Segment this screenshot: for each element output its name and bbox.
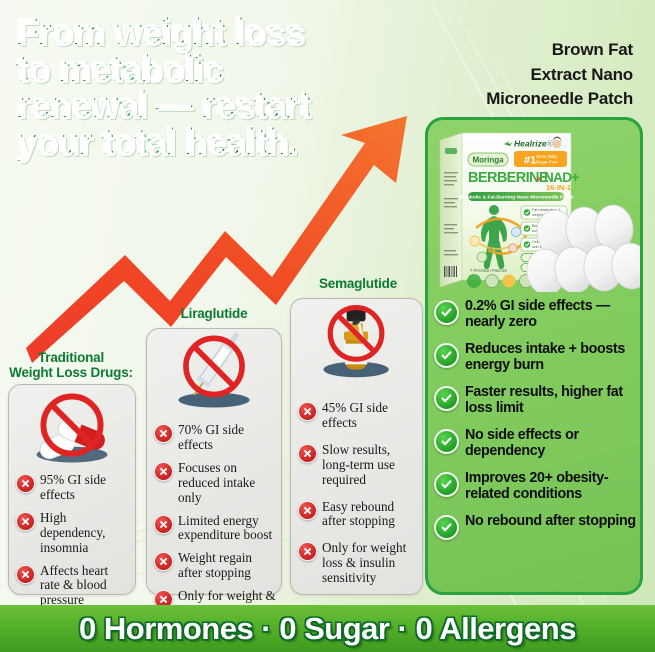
card-title-line-1: Semaglutide (288, 276, 428, 291)
drawback-label: Only for weight loss & insulin sensitivi… (322, 541, 417, 586)
drawback-label: Affects heart rate & blood pressure (40, 564, 130, 609)
svg-text:7 Precision Patches: 7 Precision Patches (470, 268, 507, 273)
svg-text:#1: #1 (524, 155, 536, 167)
comparison-card-traditional: 95% GI side effects High dependency, ins… (8, 384, 136, 595)
drawback-item: Easy rebound after stopping (298, 500, 417, 530)
product-title-line-2: Extract Nano (408, 63, 633, 88)
x-circle-icon (298, 542, 317, 561)
drawback-item: High dependency, insomnia (16, 511, 130, 556)
product-package-image: Healrize® Moringa #1 Once Daily Suga (428, 120, 640, 292)
product-title-line-1: Brown Fat (408, 38, 633, 63)
syringe-prohibited-icon (147, 329, 281, 415)
check-circle-icon (434, 472, 459, 497)
x-circle-icon (154, 515, 173, 534)
product-benefits-panel: Healrize® Moringa #1 Once Daily Suga (425, 117, 643, 595)
package-side-panel (440, 133, 462, 287)
headline-line-2: to metabolic (16, 51, 376, 88)
svg-text:×: × (536, 174, 541, 184)
banner-text: 0 Hormones · 0 Sugar · 0 Allergens (79, 611, 576, 647)
drawback-label: Limited energy expenditure boost (178, 514, 276, 544)
drawback-label: High dependency, insomnia (40, 511, 130, 556)
x-circle-icon (16, 474, 35, 493)
drawback-item: Only for weight loss & insulin sensitivi… (298, 541, 417, 586)
drawback-label: Focuses on reduced intake only (178, 461, 276, 506)
x-circle-icon (16, 512, 35, 531)
drawback-label: 95% GI side effects (40, 473, 130, 503)
check-circle-icon (434, 515, 459, 540)
product-title-line-3: Microneedle Patch (408, 87, 633, 112)
drawback-item: Limited energy expenditure boost (154, 514, 276, 544)
card-title-line-1: Liraglutide (144, 306, 284, 321)
drawback-item: 70% GI side effects (154, 423, 276, 453)
benefit-label: No rebound after stopping (465, 513, 636, 529)
svg-text:Moringa: Moringa (472, 156, 504, 165)
drawback-item: Affects heart rate & blood pressure (16, 564, 130, 609)
product-title: Brown Fat Extract Nano Microneedle Patch (408, 38, 633, 112)
benefit-item: 0.2% GI side effects — nearly zero (434, 298, 640, 330)
check-circle-icon (434, 343, 459, 368)
check-circle-icon (434, 429, 459, 454)
drawback-item: Slow results, long-term use required (298, 443, 417, 488)
card-title-traditional: Traditional Weight Loss Drugs: (6, 350, 136, 380)
benefit-item: Improves 20+ obesity-related conditions (434, 470, 640, 502)
x-circle-icon (154, 552, 173, 571)
drawback-label: 45% GI side effects (322, 401, 417, 431)
comparison-card-liraglutide: 70% GI side effects Focuses on reduced i… (146, 328, 282, 595)
infographic-root: From weight loss to metabolic renewal — … (0, 0, 655, 652)
drawback-label: Weight regain after stopping (178, 551, 276, 581)
dropper-bottle-prohibited-icon (291, 299, 422, 385)
svg-text:Metabolic & Fat-Burning Nano M: Metabolic & Fat-Burning Nano Microneedle… (459, 195, 574, 201)
check-circle-icon (434, 300, 459, 325)
benefit-label: No side effects or dependency (465, 427, 640, 459)
x-circle-icon (154, 462, 173, 481)
drawback-item: 45% GI side effects (298, 401, 417, 431)
check-circle-icon (434, 386, 459, 411)
benefit-label: Improves 20+ obesity-related conditions (465, 470, 640, 502)
x-circle-icon (298, 402, 317, 421)
drawback-item: Weight regain after stopping (154, 551, 276, 581)
svg-text:16-IN-1: 16-IN-1 (546, 183, 571, 192)
bottom-claims-banner: 0 Hormones · 0 Sugar · 0 Allergens (0, 605, 655, 652)
benefit-item: Reduces intake + boosts energy burn (434, 341, 640, 373)
svg-text:Once Daily: Once Daily (536, 154, 558, 159)
drawback-label: Easy rebound after stopping (322, 500, 417, 530)
headline-line-1: From weight loss (16, 14, 376, 51)
comparison-card-semaglutide: 45% GI side effects Slow results, long-t… (290, 298, 423, 595)
card-title-semaglutide: Semaglutide (288, 276, 428, 291)
drawback-item: 95% GI side effects (16, 473, 130, 503)
benefit-item: No side effects or dependency (434, 427, 640, 459)
x-circle-icon (298, 501, 317, 520)
card-title-line-1: Traditional (6, 350, 136, 365)
x-circle-icon (154, 424, 173, 443)
x-circle-icon (298, 444, 317, 463)
benefit-label: 0.2% GI side effects — nearly zero (465, 298, 640, 330)
card-title-liraglutide: Liraglutide (144, 306, 284, 321)
card-title-line-2: Weight Loss Drugs: (6, 365, 136, 380)
drawback-label: 70% GI side effects (178, 423, 276, 453)
benefit-item: Faster results, higher fat loss limit (434, 384, 640, 416)
pills-prohibited-icon (9, 385, 135, 471)
benefit-label: Faster results, higher fat loss limit (465, 384, 640, 416)
benefits-list: 0.2% GI side effects — nearly zero Reduc… (434, 298, 640, 551)
benefit-label: Reduces intake + boosts energy burn (465, 341, 640, 373)
benefit-item: No rebound after stopping (434, 513, 640, 540)
svg-text:Sugar Free: Sugar Free (536, 160, 559, 165)
x-circle-icon (16, 565, 35, 584)
drawback-item: Focuses on reduced intake only (154, 461, 276, 506)
drawback-label: Slow results, long-term use required (322, 443, 417, 488)
